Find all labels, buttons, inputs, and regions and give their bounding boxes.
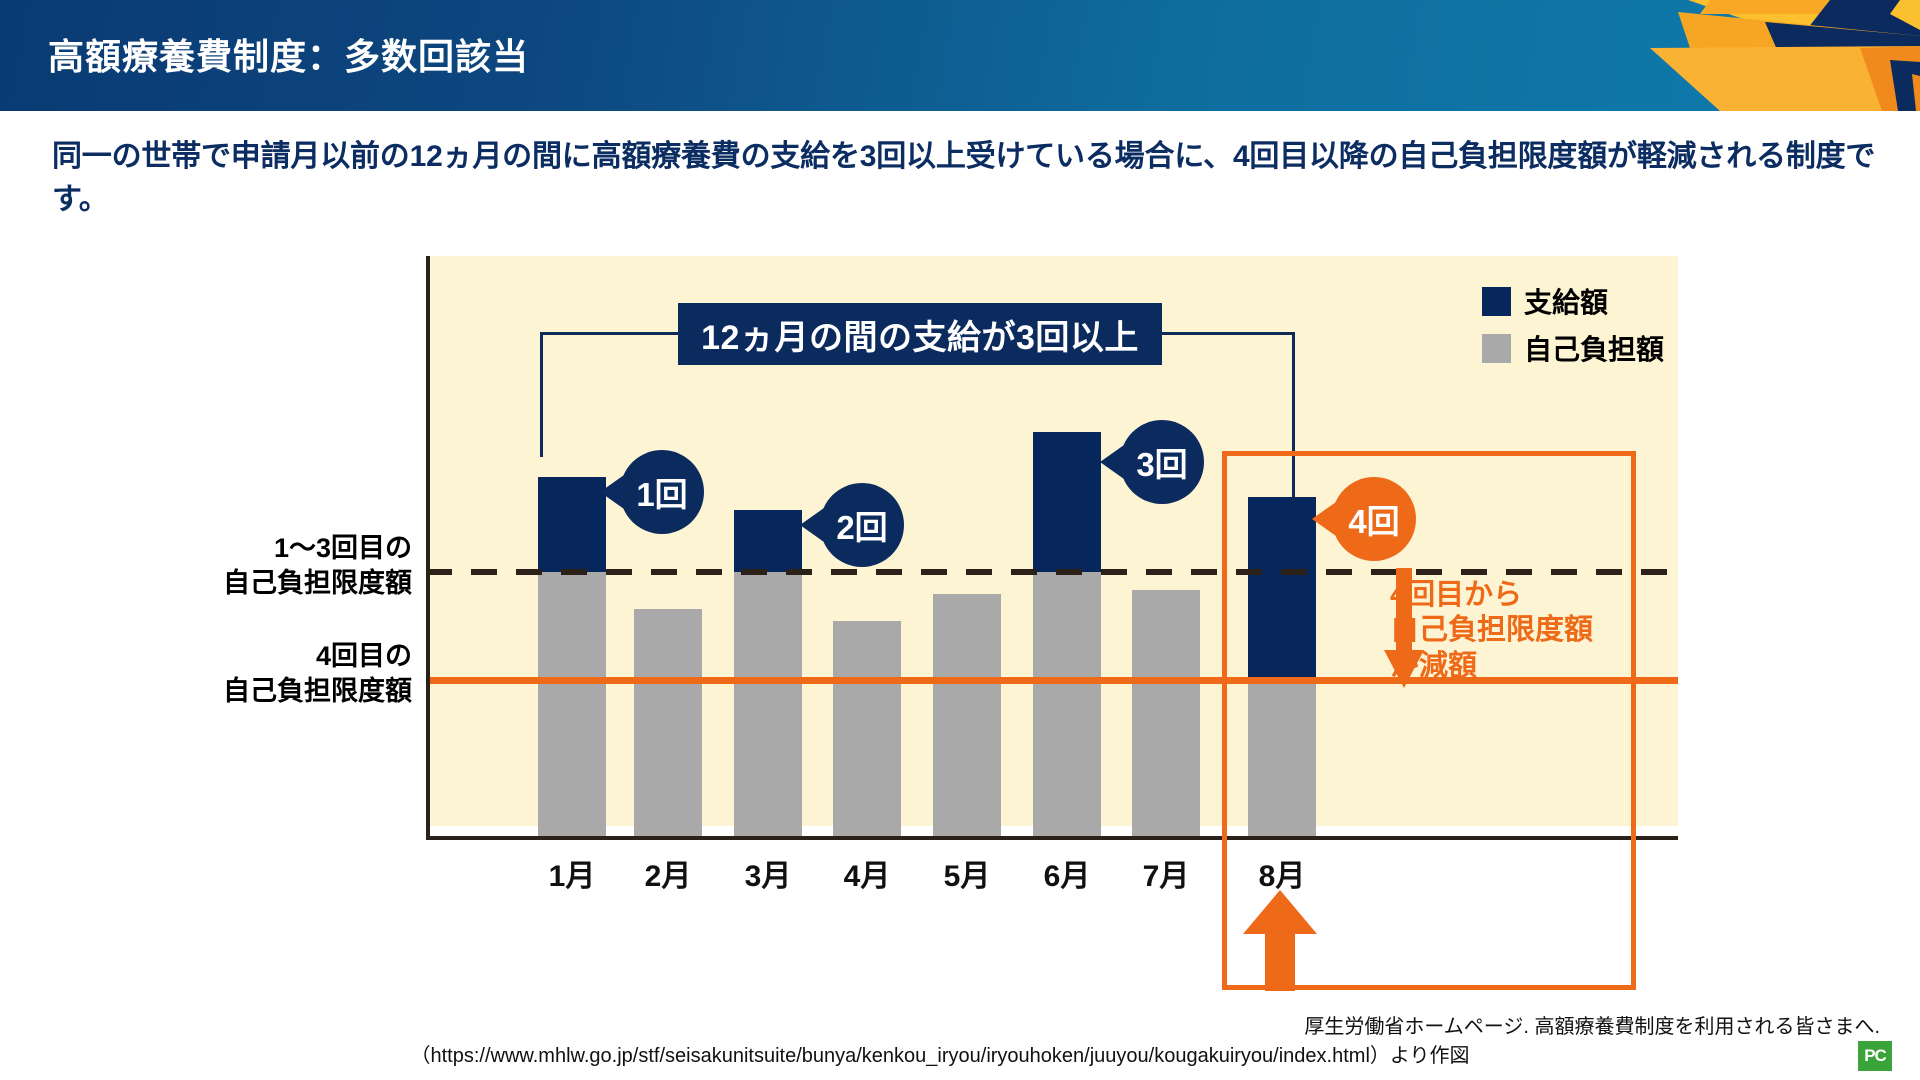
y-label-lower-limit: 4回目の 自己負担限度額	[223, 639, 412, 708]
source-line-2: （https://www.mhlw.go.jp/stf/seisakunitsu…	[0, 1042, 1880, 1071]
bar-gray-6	[1033, 572, 1101, 836]
reduction-note-line1: 4回目から	[1390, 578, 1593, 613]
x-tick-6: 6月	[1019, 851, 1115, 895]
bar-gray-2	[634, 609, 702, 836]
reduction-note-line3: が減額	[1390, 649, 1593, 684]
count-bubble-1-tail	[600, 475, 624, 509]
reduction-note: 4回目から 自己負担限度額 が減額	[1390, 578, 1593, 684]
span-banner: 12ヵ月の間の支給が3回以上	[678, 303, 1162, 365]
chart-legend: 支給額 自己負担額	[1482, 281, 1664, 375]
count-bubble-2: 2回	[820, 483, 904, 567]
span-bracket-top-right	[1158, 332, 1295, 335]
x-tick-1: 1月	[524, 851, 620, 895]
reduction-note-line2: 自己負担限度額	[1390, 613, 1593, 648]
bar-gray-1	[538, 572, 606, 836]
y-axis	[426, 256, 430, 840]
x-tick-4: 4月	[819, 851, 915, 895]
count-bubble-3-tail	[1100, 445, 1124, 479]
up-arrow-icon	[1243, 890, 1317, 991]
x-tick-3: 3月	[720, 851, 816, 895]
y-label-upper-limit: 1〜3回目の 自己負担限度額	[223, 531, 412, 600]
x-tick-2: 2月	[620, 851, 716, 895]
legend-label-selfpay: 自己負担額	[1524, 328, 1664, 368]
y-label-upper-line2: 自己負担限度額	[223, 566, 412, 601]
legend-swatch-selfpay	[1482, 334, 1511, 363]
legend-item-benefit: 支給額	[1482, 281, 1664, 321]
y-label-lower-line1: 4回目の	[223, 639, 412, 674]
pc-logo: PC	[1858, 1041, 1892, 1071]
bar-gray-5	[933, 594, 1001, 836]
bar-gray-7	[1132, 590, 1200, 836]
span-bracket-left	[540, 332, 543, 457]
legend-item-selfpay: 自己負担額	[1482, 328, 1664, 368]
count-bubble-2-tail	[800, 508, 824, 542]
bar-navy-3	[734, 510, 802, 572]
x-tick-7: 7月	[1118, 851, 1214, 895]
bar-gray-4	[833, 621, 901, 836]
y-label-upper-line1: 1〜3回目の	[223, 531, 412, 566]
span-bracket-top-left	[540, 332, 682, 335]
bar-gray-3	[734, 572, 802, 836]
legend-label-benefit: 支給額	[1524, 281, 1608, 321]
bar-navy-6	[1033, 432, 1101, 572]
bar-navy-1	[538, 477, 606, 572]
chart-container: 1〜3回目の 自己負担限度額 4回目の 自己負担限度額 1月 2月 3月 4月 …	[0, 0, 1920, 1080]
legend-swatch-benefit	[1482, 287, 1511, 316]
y-label-lower-line2: 自己負担限度額	[223, 674, 412, 709]
source-note: 厚生労働省ホームページ. 高額療養費制度を利用される皆さまへ. （https:/…	[0, 1013, 1880, 1071]
count-bubble-3: 3回	[1120, 420, 1204, 504]
count-bubble-1: 1回	[620, 450, 704, 534]
x-tick-5: 5月	[919, 851, 1015, 895]
source-line-1: 厚生労働省ホームページ. 高額療養費制度を利用される皆さまへ.	[0, 1013, 1880, 1042]
